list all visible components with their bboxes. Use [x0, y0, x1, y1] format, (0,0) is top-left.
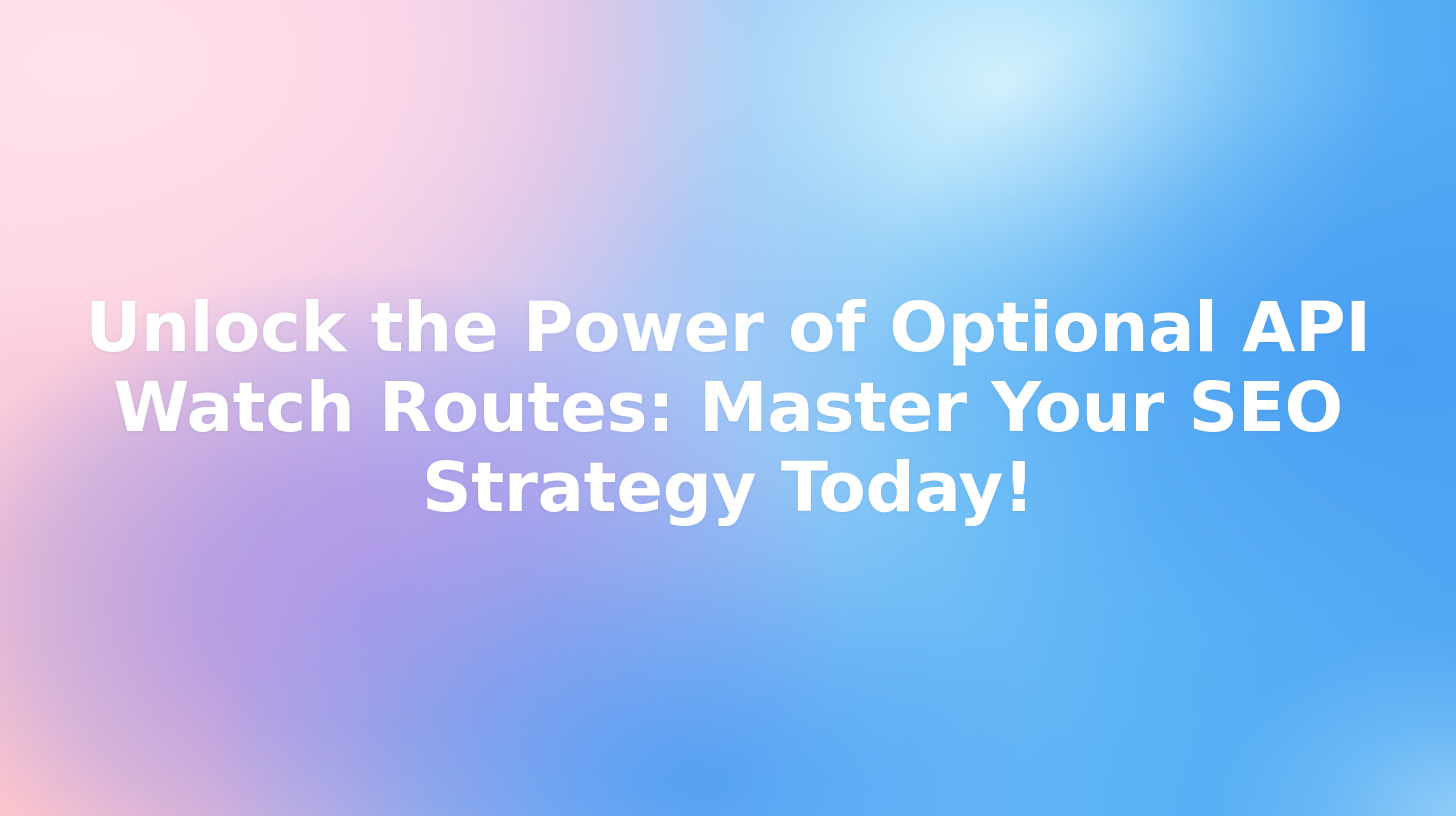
- page-title: Unlock the Power of Optional API Watch R…: [28, 288, 1428, 528]
- hero-banner: Unlock the Power of Optional API Watch R…: [0, 0, 1456, 816]
- headline-container: Unlock the Power of Optional API Watch R…: [0, 0, 1456, 816]
